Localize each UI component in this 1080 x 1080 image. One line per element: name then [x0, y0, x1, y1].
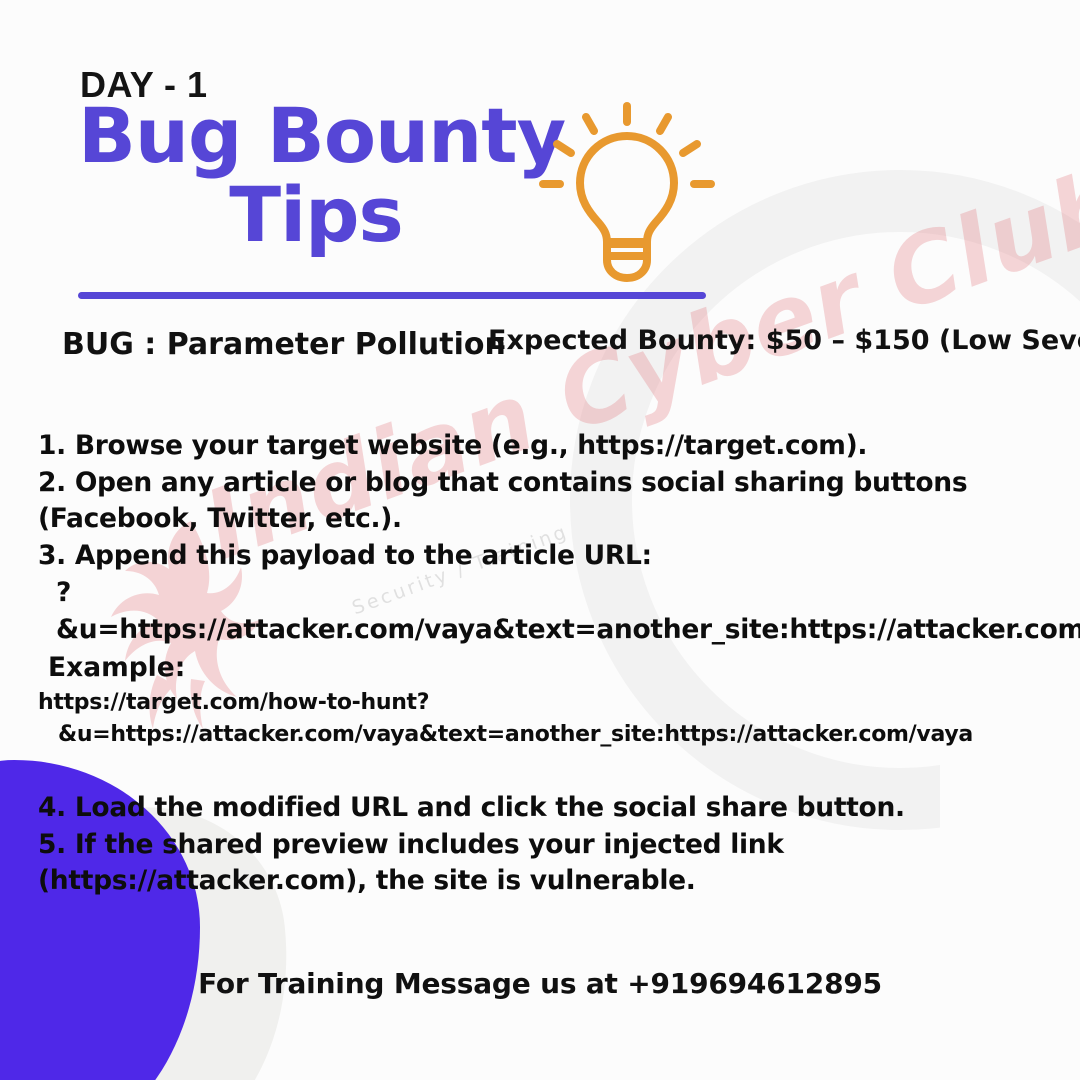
lightbulb-icon — [527, 92, 727, 292]
step-item: 1. Browse your target website (e.g., htt… — [38, 428, 1050, 465]
bug-type-label: BUG : Parameter Pollution — [62, 327, 506, 362]
step-item: 3. Append this payload to the article UR… — [38, 538, 1050, 575]
expected-bounty-label: Expected Bounty: $50 – $150 (Low Severit… — [488, 325, 1080, 356]
example-url: https://target.com/how-to-hunt?&u=https:… — [38, 687, 1053, 751]
example-label: Example: — [38, 652, 1053, 683]
step-item: 2. Open any article or blog that contain… — [38, 465, 1050, 538]
step-item: 4. Load the modified URL and click the s… — [38, 790, 1050, 827]
example-block: Example: https://target.com/how-to-hunt?… — [38, 652, 1053, 751]
payload-text: ?&u=https://attacker.com/vaya&text=anoth… — [38, 575, 1050, 648]
header-divider — [78, 292, 706, 299]
steps-list-bottom: 4. Load the modified URL and click the s… — [38, 790, 1050, 900]
steps-list-top: 1. Browse your target website (e.g., htt… — [38, 428, 1050, 648]
training-contact-cta: For Training Message us at +919694612895 — [0, 967, 1080, 1000]
step-item: 5. If the shared preview includes your i… — [38, 827, 1050, 900]
bug-bounty-tips-poster: Indian Cyber Club Security / Training DA… — [0, 0, 1080, 1080]
